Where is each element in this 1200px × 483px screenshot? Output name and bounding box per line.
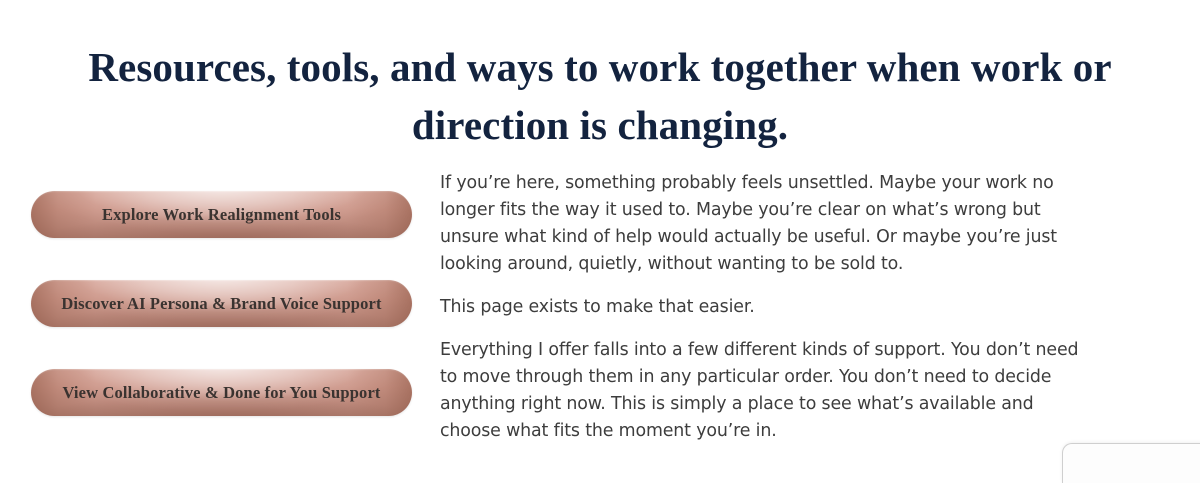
chat-widget-panel[interactable] — [1062, 443, 1200, 483]
content-row: Explore Work Realignment Tools Discover … — [0, 170, 1200, 445]
cta-button-column: Explore Work Realignment Tools Discover … — [0, 170, 440, 416]
intro-paragraph-3: Everything I offer falls into a few diff… — [440, 337, 1080, 445]
page-root: Resources, tools, and ways to work toget… — [0, 0, 1200, 460]
intro-paragraph-1: If you’re here, something probably feels… — [440, 170, 1080, 278]
cta-label: Discover AI Persona & Brand Voice Suppor… — [31, 280, 412, 327]
page-title: Resources, tools, and ways to work toget… — [80, 38, 1120, 154]
explore-work-realignment-tools-button[interactable]: Explore Work Realignment Tools — [31, 191, 412, 238]
cta-label: Explore Work Realignment Tools — [31, 191, 412, 238]
intro-paragraph-2: This page exists to make that easier. — [440, 294, 1080, 321]
intro-text-column: If you’re here, something probably feels… — [440, 170, 1140, 445]
view-collaborative-done-for-you-support-button[interactable]: View Collaborative & Done for You Suppor… — [31, 369, 412, 416]
discover-ai-persona-brand-voice-support-button[interactable]: Discover AI Persona & Brand Voice Suppor… — [31, 280, 412, 327]
cta-label: View Collaborative & Done for You Suppor… — [31, 369, 412, 416]
